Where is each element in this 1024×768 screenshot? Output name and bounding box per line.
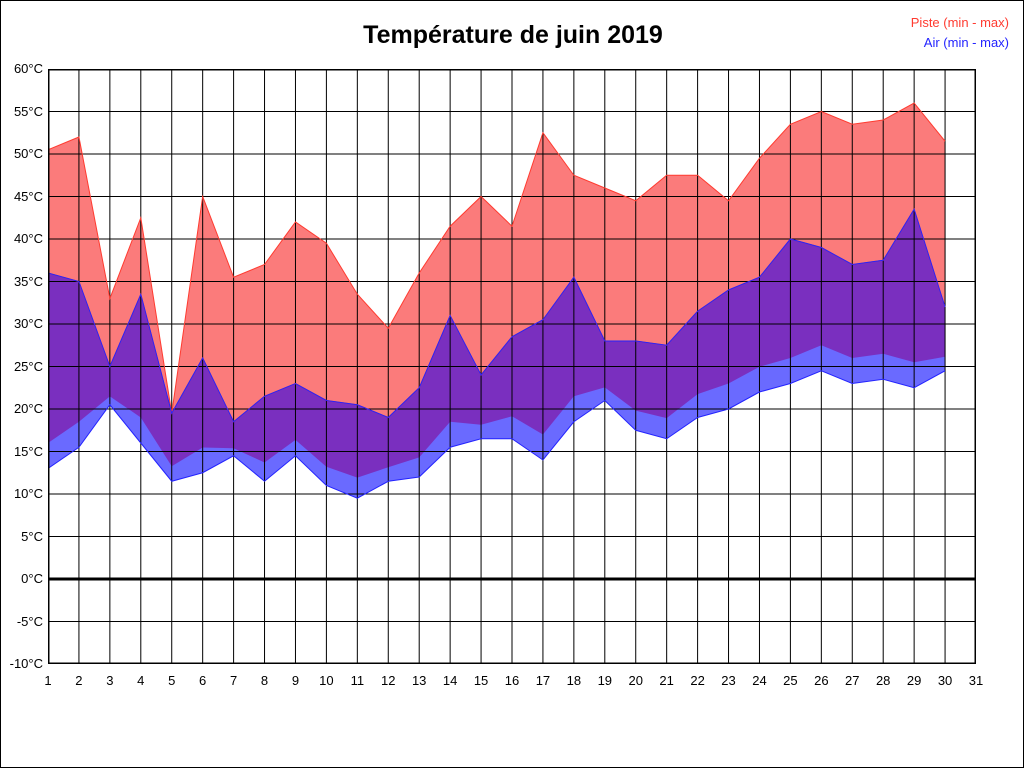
x-axis-tick-label: 29 — [899, 673, 929, 688]
y-axis-tick-label: 15°C — [1, 444, 43, 459]
x-axis-tick-label: 9 — [280, 673, 310, 688]
x-axis-tick-label: 24 — [744, 673, 774, 688]
x-axis-tick-label: 23 — [714, 673, 744, 688]
x-axis-tick-label: 5 — [157, 673, 187, 688]
x-axis-tick-label: 8 — [250, 673, 280, 688]
x-axis-tick-label: 6 — [188, 673, 218, 688]
y-axis-tick-label: -5°C — [1, 614, 43, 629]
x-axis-tick-label: 15 — [466, 673, 496, 688]
legend-item-piste: Piste (min - max) — [911, 13, 1009, 33]
x-axis-tick-label: 27 — [837, 673, 867, 688]
x-axis-tick-label: 7 — [219, 673, 249, 688]
y-axis-tick-label: 0°C — [1, 571, 43, 586]
y-axis-tick-label: 5°C — [1, 529, 43, 544]
y-axis-tick-label: 30°C — [1, 316, 43, 331]
y-axis-tick-label: 10°C — [1, 486, 43, 501]
chart-page: Température de juin 2019 Piste (min - ma… — [0, 0, 1024, 768]
legend: Piste (min - max) Air (min - max) — [911, 13, 1009, 53]
x-axis-tick-label: 4 — [126, 673, 156, 688]
y-axis-tick-label: -10°C — [1, 656, 43, 671]
x-axis-tick-label: 1 — [33, 673, 63, 688]
x-axis-tick-label: 13 — [404, 673, 434, 688]
x-axis-tick-label: 17 — [528, 673, 558, 688]
page-title: Température de juin 2019 — [1, 21, 1024, 50]
x-axis-tick-label: 18 — [559, 673, 589, 688]
y-axis-tick-label: 20°C — [1, 401, 43, 416]
x-axis-tick-label: 20 — [621, 673, 651, 688]
y-axis-tick-label: 55°C — [1, 104, 43, 119]
y-axis-tick-label: 60°C — [1, 61, 43, 76]
x-axis-tick-label: 14 — [435, 673, 465, 688]
y-axis-tick-label: 35°C — [1, 274, 43, 289]
x-axis-tick-label: 22 — [683, 673, 713, 688]
x-axis-tick-label: 21 — [652, 673, 682, 688]
y-axis-tick-label: 45°C — [1, 189, 43, 204]
x-axis-tick-label: 2 — [64, 673, 94, 688]
x-axis-tick-label: 3 — [95, 673, 125, 688]
y-axis-tick-label: 40°C — [1, 231, 43, 246]
chart-svg — [48, 69, 976, 664]
x-axis-tick-label: 12 — [373, 673, 403, 688]
x-axis-tick-label: 30 — [930, 673, 960, 688]
y-axis-tick-label: 25°C — [1, 359, 43, 374]
x-axis-tick-label: 19 — [590, 673, 620, 688]
x-axis-tick-label: 16 — [497, 673, 527, 688]
x-axis-tick-label: 10 — [311, 673, 341, 688]
legend-item-air: Air (min - max) — [911, 33, 1009, 53]
x-axis-tick-label: 25 — [775, 673, 805, 688]
x-axis-tick-label: 26 — [806, 673, 836, 688]
x-axis-tick-label: 11 — [342, 673, 372, 688]
y-axis-tick-label: 50°C — [1, 146, 43, 161]
plot-area — [48, 69, 976, 664]
x-axis-tick-label: 31 — [961, 673, 991, 688]
x-axis-tick-label: 28 — [868, 673, 898, 688]
